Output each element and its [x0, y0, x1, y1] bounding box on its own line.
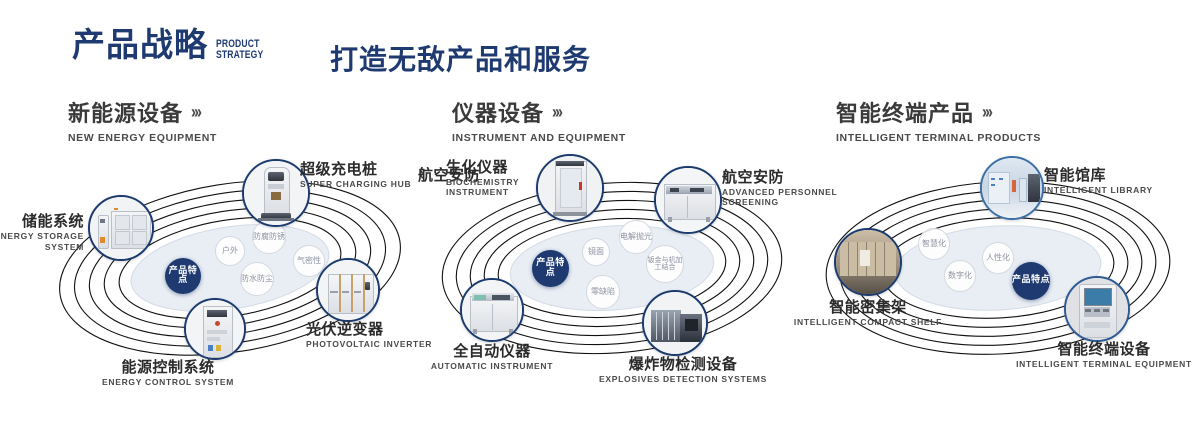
page-title: 产品战略	[72, 26, 208, 64]
caption-energy-storage: 储能系统 ENERGY STORAGE SYSTEM	[0, 212, 84, 253]
caption-energy-control: 能源控制系统 ENERGY CONTROL SYSTEM	[78, 358, 258, 388]
chevrons-icon: ›››	[552, 101, 561, 122]
feature-bubble: 数字化	[944, 260, 976, 292]
charging-pile-icon	[244, 161, 308, 225]
page-title-english-line2: STRATEGY	[216, 50, 263, 61]
feature-bubble: 钣金与机加工结合	[646, 245, 684, 283]
library-room-icon	[982, 158, 1042, 218]
node-automatic-instrument[interactable]	[460, 278, 524, 342]
section-heading-en: INTELLIGENT TERMINAL PRODUCTS	[836, 132, 1041, 144]
section-heading-new-energy: 新能源设备››› NEW ENERGY EQUIPMENT	[68, 96, 217, 144]
orbit-group-intelligent: 智慧化 数字化 人性化 产品特点 智能馆库	[812, 150, 1192, 380]
auto-analyzer-icon	[462, 280, 522, 340]
energy-storage-cabinet-icon	[90, 197, 152, 259]
section-heading-en: NEW ENERGY EQUIPMENT	[68, 132, 217, 144]
node-personnel-screening[interactable]	[654, 166, 722, 234]
feature-bubble: 镜面	[582, 238, 610, 266]
node-energy-control[interactable]	[184, 298, 246, 360]
node-compact-shelf[interactable]	[834, 228, 902, 296]
node-energy-storage[interactable]	[88, 195, 154, 261]
caption-intelligent-library: 智能馆库 INTELLIGENT LIBRARY	[1044, 166, 1194, 196]
node-terminal-equipment[interactable]	[1064, 276, 1130, 342]
page-title-block: 产品战略 PRODUCT STRATEGY	[72, 26, 277, 64]
orbit-group-new-energy: 产品特点 户外 防腐防锈 防水防尘 气密性	[40, 150, 420, 380]
node-intelligent-library[interactable]	[980, 156, 1044, 220]
screening-machine-icon	[656, 168, 720, 232]
caption-biochemistry-instrument: 生化仪器 BIOCHEMISTRY INSTRUMENT	[446, 158, 566, 197]
page-title-english: PRODUCT STRATEGY	[216, 39, 263, 61]
caption-compact-shelf: 智能密集架 INTELLIGENT COMPACT SHELF	[786, 298, 950, 328]
page-slogan: 打造无敌产品和服务	[330, 38, 591, 78]
chevrons-icon: ›››	[191, 101, 200, 122]
feature-bubble: 电解抛光	[619, 220, 653, 254]
feature-bubble: 零缺陷	[586, 275, 620, 309]
section-heading-intelligent: 智能终端产品››› INTELLIGENT TERMINAL PRODUCTS	[836, 96, 1041, 144]
compact-shelf-icon	[836, 230, 900, 294]
section-heading-instrument: 仪器设备››› INSTRUMENT AND EQUIPMENT	[452, 96, 626, 144]
inverter-cabinet-icon	[318, 260, 378, 320]
core-bubble: 产品特点	[532, 250, 569, 287]
section-heading-cn: 新能源设备	[68, 96, 183, 128]
section-heading-cn: 仪器设备	[452, 96, 544, 128]
feature-bubble: 防水防尘	[240, 262, 274, 296]
core-bubble: 产品特点	[165, 258, 201, 294]
section-heading-en: INSTRUMENT AND EQUIPMENT	[452, 132, 626, 144]
feature-bubble: 人性化	[982, 242, 1014, 274]
caption-explosives-detection: 爆炸物检测设备 EXPLOSIVES DETECTION SYSTEMS	[588, 355, 778, 385]
node-explosives-detection[interactable]	[642, 290, 708, 356]
section-heading-cn: 智能终端产品	[836, 96, 974, 128]
infographic-canvas: 产品战略 PRODUCT STRATEGY 打造无敌产品和服务 新能源设备›››…	[0, 0, 1200, 422]
feature-bubble: 户外	[215, 236, 245, 266]
feature-bubble: 智慧化	[918, 228, 950, 260]
self-service-kiosk-icon	[1066, 278, 1128, 340]
caption-automatic-instrument: 全自动仪器 AUTOMATIC INSTRUMENT	[412, 342, 572, 372]
explosive-detector-icon	[644, 292, 706, 354]
control-cabinet-icon	[186, 300, 244, 358]
orbit-group-instrument: 产品特点 镜面 电解抛光 零缺陷 钣金与机加工结合 航空安防	[424, 150, 800, 380]
caption-terminal-equipment: 智能终端设备 INTELLIGENT TERMINAL EQUIPMENT	[1012, 340, 1196, 370]
node-pv-inverter[interactable]	[316, 258, 380, 322]
chevrons-icon: ›››	[982, 101, 991, 122]
core-bubble: 产品特点	[1012, 262, 1050, 300]
